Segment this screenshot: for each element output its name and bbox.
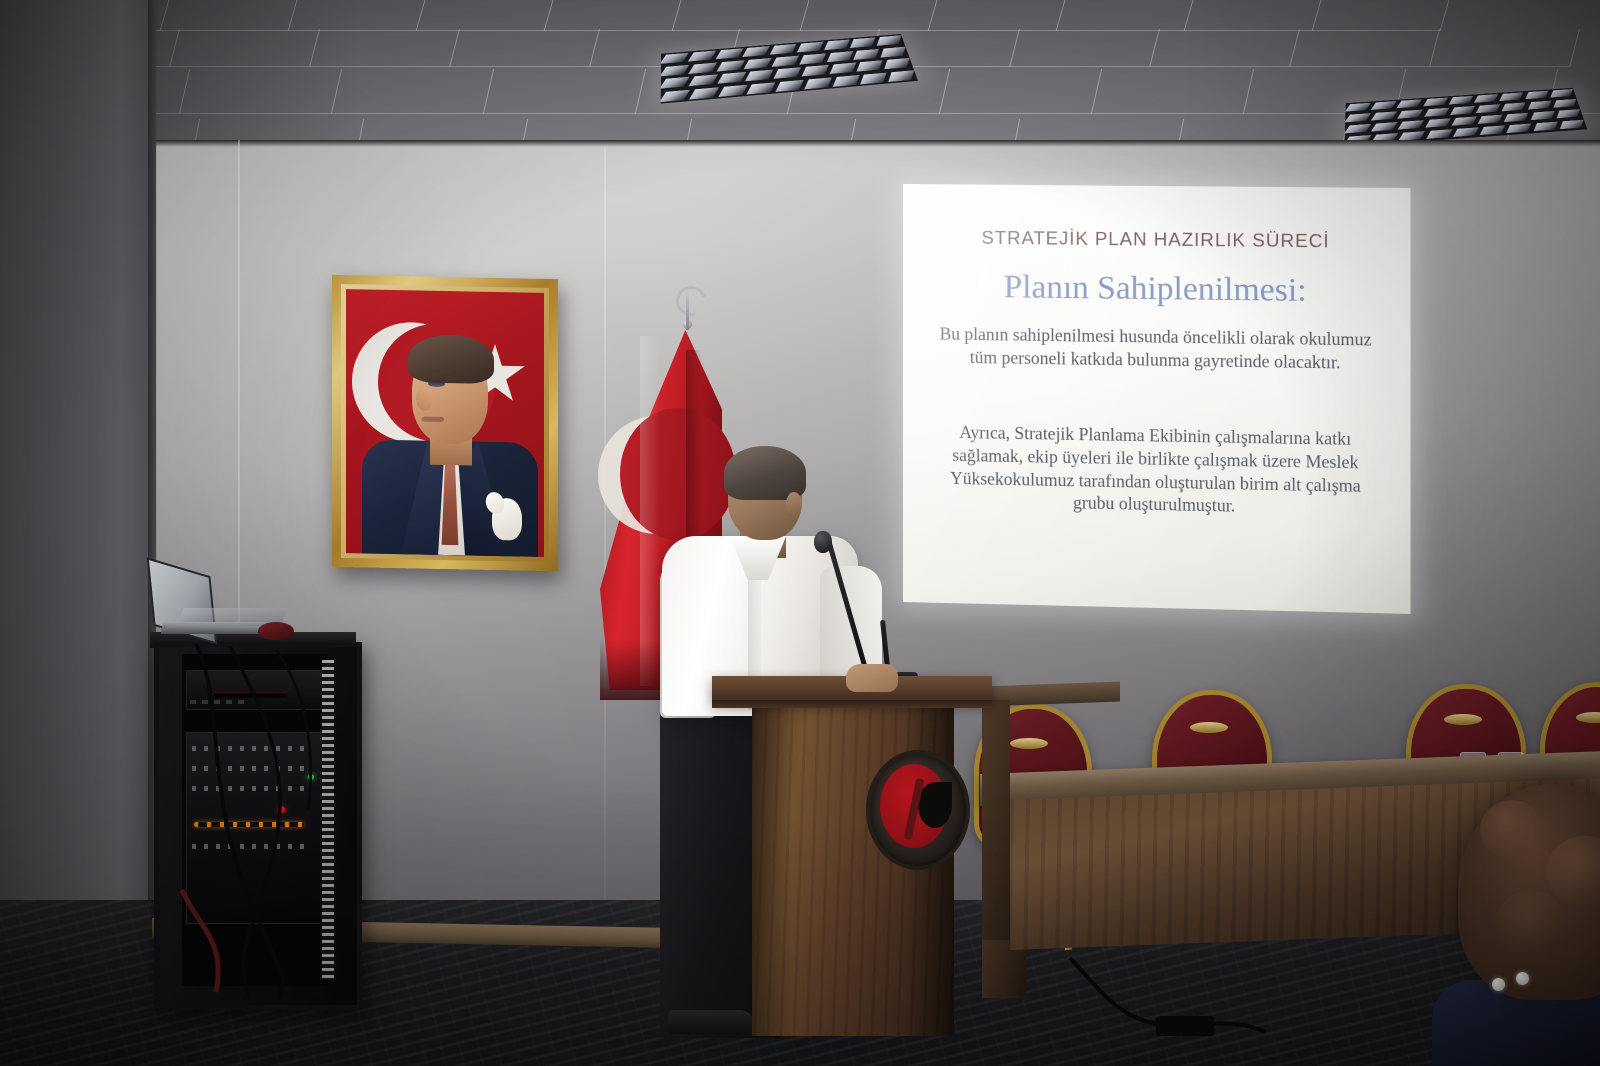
flag-fold-highlight <box>640 336 660 686</box>
louver-cell <box>661 77 690 89</box>
louver-cell <box>877 35 901 45</box>
louver-cell <box>884 58 909 69</box>
podium-top-edge <box>712 700 992 708</box>
louver-cell <box>776 79 804 91</box>
speaker-shoe <box>668 1010 754 1034</box>
louver-cell <box>1424 108 1450 117</box>
louver-cell <box>1550 89 1573 98</box>
louver-cell <box>747 82 775 94</box>
louver-cell <box>774 67 801 78</box>
flagpole <box>686 290 689 330</box>
louver-cell <box>744 58 771 69</box>
louver-cell <box>1426 129 1452 139</box>
louver-cell <box>689 87 719 99</box>
louver-cell <box>661 65 689 76</box>
louver-cell <box>1398 110 1424 119</box>
secondary-table-leg <box>982 700 1010 940</box>
louver-cell <box>829 63 855 74</box>
wall-ceiling-junction <box>152 140 1600 147</box>
louver-cell <box>1371 111 1397 120</box>
projected-slide: STRATEJİK PLAN HAZIRLIK SÜRECİ Planın Sa… <box>903 184 1411 614</box>
louver-cell <box>1478 115 1503 124</box>
portrait-canvas <box>346 289 544 557</box>
louver-cell <box>1525 91 1548 100</box>
podium-shadow-left <box>752 706 792 1036</box>
louver-cell <box>661 89 690 101</box>
louver-cell <box>804 77 831 89</box>
louver-cell <box>746 70 774 81</box>
mixer-power-led <box>278 806 285 813</box>
ceiling-tile <box>416 0 554 31</box>
pearl-bead <box>1492 978 1505 991</box>
mixer-knob-row[interactable] <box>192 766 312 771</box>
louver-cell <box>1530 111 1554 120</box>
louver-cell <box>797 42 823 52</box>
louver-cell <box>661 53 689 64</box>
louver-cell <box>1476 104 1501 113</box>
louver-cell <box>1344 124 1371 134</box>
louver-cell <box>1533 122 1557 131</box>
louver-cell <box>1528 101 1552 110</box>
pearl-bead <box>1516 972 1529 985</box>
ceiling-tile <box>939 69 1102 114</box>
mixer-knob-row[interactable] <box>192 786 312 791</box>
ceiling-tile <box>800 0 938 31</box>
louver-cell <box>1507 124 1532 134</box>
slide-glare <box>903 184 1411 614</box>
ceiling-tile <box>483 69 646 114</box>
louver-cell <box>1502 102 1526 111</box>
louver-cell <box>1504 113 1529 122</box>
louver-cell <box>827 51 853 62</box>
mixer-status-led <box>308 774 314 780</box>
microphone-capsule-icon <box>814 531 832 553</box>
portrait-hair <box>408 334 494 384</box>
dvd-disc-slot[interactable] <box>214 692 286 698</box>
attendee-hair-curl <box>1496 890 1566 956</box>
louver-cell <box>881 46 906 57</box>
wall-panel-seam <box>604 148 606 938</box>
louver-cell <box>1398 120 1424 129</box>
portrait-nose <box>416 388 432 410</box>
louver-cell <box>1371 101 1397 110</box>
louver-cell <box>799 53 825 64</box>
louver-cell <box>1450 106 1475 115</box>
audio-mixer[interactable] <box>186 732 324 924</box>
louver-cell <box>772 55 799 66</box>
louver-cell <box>1345 103 1371 112</box>
louver-cell <box>1556 109 1580 118</box>
turkish-flag-crescent-cutout <box>620 408 736 540</box>
mixer-knob-row[interactable] <box>192 746 312 751</box>
ceiling-tile <box>449 29 600 67</box>
louver-cell <box>854 49 879 60</box>
rack-interior <box>182 654 328 986</box>
speaker-ear <box>786 492 802 516</box>
dvd-player[interactable] <box>186 670 324 710</box>
ceiling-tile <box>928 0 1066 31</box>
louver-cell <box>888 70 914 81</box>
ceiling-tile <box>1009 29 1160 67</box>
ataturk-portrait <box>332 275 558 571</box>
louver-cell <box>1451 116 1476 125</box>
attendee-hair-curl <box>1480 800 1544 860</box>
speaker-hand <box>846 664 898 692</box>
louver-cell <box>1425 118 1451 127</box>
floor-cable <box>1060 950 1280 1040</box>
louver-cell <box>715 48 743 59</box>
louver-cell <box>1449 96 1474 105</box>
louver-cell <box>743 46 770 57</box>
dvd-buttons[interactable] <box>190 700 244 704</box>
louver-cell <box>1423 98 1448 107</box>
ceiling-tile <box>1056 0 1194 31</box>
louver-cell <box>688 51 716 62</box>
louver-cell <box>832 75 859 87</box>
portrait-eye <box>428 381 445 387</box>
louver-cell <box>1453 127 1479 137</box>
ceiling-tile <box>672 0 810 31</box>
louver-cell <box>1344 113 1371 122</box>
louver-cell <box>1474 94 1498 103</box>
mixer-led-row <box>194 822 304 827</box>
portrait-mouth <box>422 417 444 422</box>
louver-cell <box>1371 122 1398 131</box>
louver-cell <box>718 84 747 96</box>
louver-cell <box>1500 92 1524 101</box>
louver-cell <box>851 37 876 47</box>
louver-cell <box>1397 99 1423 108</box>
louver-cell <box>861 72 887 83</box>
louver-cell <box>770 44 796 54</box>
rack-vent-strip <box>322 660 334 980</box>
ceiling-tile <box>544 0 682 31</box>
computer-mouse[interactable] <box>258 622 294 640</box>
louver-cell <box>689 74 718 85</box>
louver-cell <box>1560 120 1584 129</box>
louver-cell <box>717 72 745 83</box>
louver-cell <box>802 65 829 76</box>
emblem-black-shape <box>918 782 952 828</box>
louver-cell <box>1480 125 1505 135</box>
conference-room-photo: STRATEJİK PLAN HAZIRLIK SÜRECİ Planın Sa… <box>0 0 1600 1066</box>
louver-cell <box>824 40 849 50</box>
louver-cell <box>688 62 717 73</box>
louver-cell <box>1553 99 1576 108</box>
louver-cell <box>716 60 744 71</box>
mixer-fader-row[interactable] <box>192 844 312 849</box>
louver-cell <box>857 60 883 71</box>
